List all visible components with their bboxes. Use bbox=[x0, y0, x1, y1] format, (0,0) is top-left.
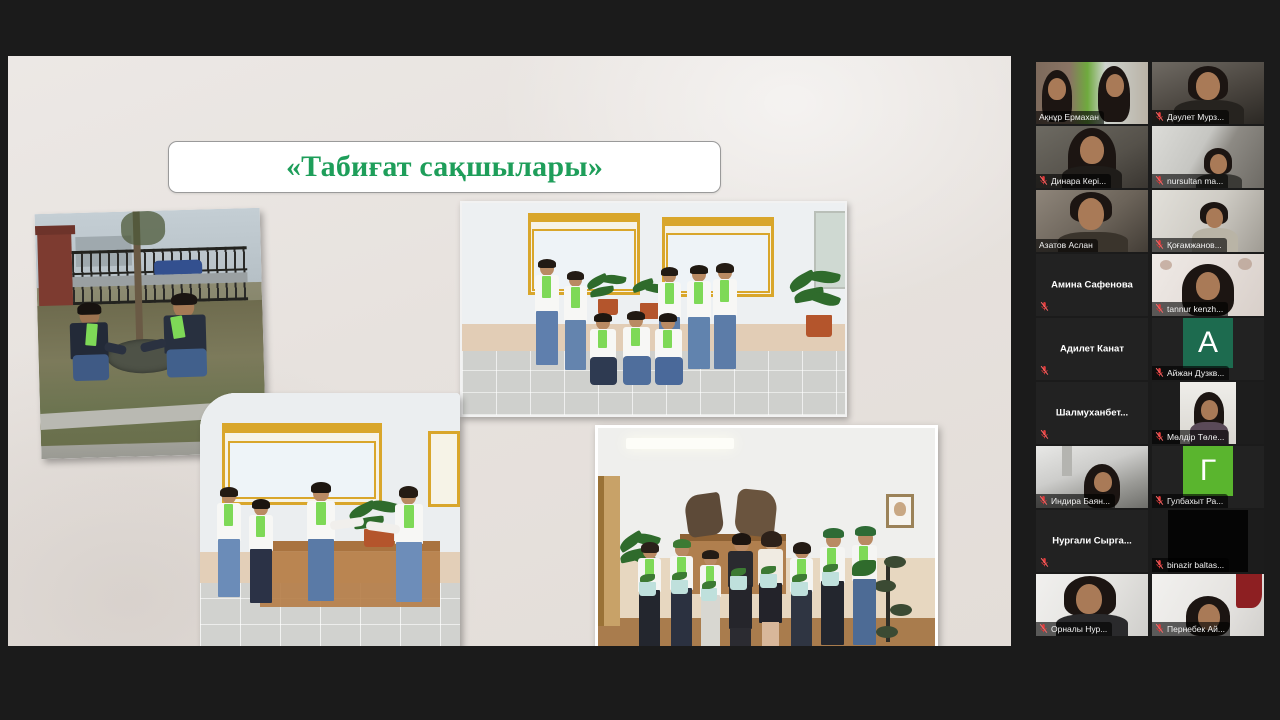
mic-muted-icon bbox=[1155, 239, 1164, 250]
participant-namebar: Индира Баян... bbox=[1036, 494, 1115, 508]
participant-name: Ақнұр Ермахан bbox=[1039, 112, 1099, 122]
mic-muted-icon bbox=[1039, 623, 1048, 634]
participant-name: nursultan ma... bbox=[1167, 176, 1223, 186]
participant-tile[interactable]: ГГулбахыт Ра... bbox=[1152, 446, 1264, 508]
participant-namebar: binazir baltas... bbox=[1152, 558, 1229, 572]
mic-muted-icon bbox=[1155, 495, 1164, 506]
participant-name: Шалмуханбет... bbox=[1036, 408, 1148, 419]
participant-name: Амина Сафенова bbox=[1036, 280, 1148, 291]
participant-tile[interactable]: Амина Сафенова bbox=[1036, 254, 1148, 316]
participant-name: binazir baltas... bbox=[1167, 560, 1224, 570]
participant-tile[interactable]: Орналы Нур... bbox=[1036, 574, 1148, 636]
participant-name: Динара Кері... bbox=[1051, 176, 1106, 186]
participant-tile[interactable]: binazir baltas... bbox=[1152, 510, 1264, 572]
participant-name: Индира Баян... bbox=[1051, 496, 1110, 506]
participant-tile[interactable]: tannur kenzh... bbox=[1152, 254, 1264, 316]
participant-name: Дәулет Мурз... bbox=[1167, 112, 1224, 122]
participant-namebar: Мөлдір Төле... bbox=[1152, 430, 1229, 444]
participant-name: Пернебек Ай... bbox=[1167, 624, 1225, 634]
participant-name: Гулбахыт Ра... bbox=[1167, 496, 1223, 506]
shared-screen-slide[interactable]: «Табиғат сақшылары» bbox=[8, 56, 1011, 646]
mic-muted-icon bbox=[1039, 175, 1048, 186]
participant-name: Нургали Сырга... bbox=[1036, 536, 1148, 547]
participant-tile[interactable]: Шалмуханбет... bbox=[1036, 382, 1148, 444]
mic-muted-icon bbox=[1040, 301, 1049, 312]
participant-tile[interactable]: Мөлдір Төле... bbox=[1152, 382, 1264, 444]
zoom-meeting-window: «Табиғат сақшылары» bbox=[0, 0, 1280, 720]
participant-tile[interactable]: Пернебек Ай... bbox=[1152, 574, 1264, 636]
mic-muted-icon bbox=[1040, 429, 1049, 440]
participant-tile[interactable]: Дәулет Мурз... bbox=[1152, 62, 1264, 124]
photo-carrying-plant bbox=[200, 393, 460, 646]
participant-tile[interactable]: nursultan ma... bbox=[1152, 126, 1264, 188]
participant-namebar: tannur kenzh... bbox=[1152, 302, 1228, 316]
photo-class-group bbox=[460, 201, 847, 417]
participant-tile[interactable]: Динара Кері... bbox=[1036, 126, 1148, 188]
participant-name: Мөлдір Төле... bbox=[1167, 432, 1224, 442]
participant-name: Адилет Канат bbox=[1036, 344, 1148, 355]
participant-namebar: Пернебек Ай... bbox=[1152, 622, 1230, 636]
participant-tile[interactable]: Нургали Сырга... bbox=[1036, 510, 1148, 572]
mic-muted-icon bbox=[1155, 559, 1164, 570]
mic-muted-icon bbox=[1039, 495, 1048, 506]
participant-tile[interactable]: ААйжан Дузкв... bbox=[1152, 318, 1264, 380]
participant-namebar: Айжан Дузкв... bbox=[1152, 366, 1229, 380]
participant-namebar: Қоғамжанов... bbox=[1152, 238, 1227, 252]
mic-muted-icon bbox=[1155, 367, 1164, 378]
participant-tile[interactable]: Адилет Канат bbox=[1036, 318, 1148, 380]
participant-namebar: Ақнұр Ермахан bbox=[1036, 111, 1104, 124]
photo-carrying-plant-image bbox=[200, 393, 460, 646]
participant-namebar: Орналы Нур... bbox=[1036, 622, 1112, 636]
slide-title-plaque: «Табиғат сақшылары» bbox=[168, 141, 721, 193]
participant-tile[interactable]: Индира Баян... bbox=[1036, 446, 1148, 508]
avatar: Г bbox=[1183, 446, 1233, 496]
mic-muted-icon bbox=[1155, 623, 1164, 634]
participant-namebar: Азатов Аслан bbox=[1036, 239, 1098, 252]
photo-hall-lineup-image bbox=[598, 428, 935, 646]
participant-tile[interactable]: Қоғамжанов... bbox=[1152, 190, 1264, 252]
participant-name: Азатов Аслан bbox=[1039, 240, 1093, 250]
photo-class-group-image bbox=[462, 203, 845, 415]
participant-tile[interactable]: Ақнұр Ермахан bbox=[1036, 62, 1148, 124]
mic-muted-icon bbox=[1155, 111, 1164, 122]
participant-namebar: Дәулет Мурз... bbox=[1152, 110, 1229, 124]
participant-tile[interactable]: Азатов Аслан bbox=[1036, 190, 1148, 252]
mic-muted-icon bbox=[1155, 431, 1164, 442]
participant-gallery[interactable]: Ақнұр ЕрмаханДәулет Мурз...Динара Кері..… bbox=[1036, 62, 1268, 648]
participant-namebar: nursultan ma... bbox=[1152, 174, 1228, 188]
page-title: «Табиғат сақшылары» bbox=[286, 150, 603, 184]
mic-muted-icon bbox=[1155, 303, 1164, 314]
participant-name: tannur kenzh... bbox=[1167, 304, 1223, 314]
participant-name: Айжан Дузкв... bbox=[1167, 368, 1224, 378]
participant-name: Орналы Нур... bbox=[1051, 624, 1107, 634]
photo-hall-lineup bbox=[595, 425, 938, 646]
participant-namebar: Динара Кері... bbox=[1036, 174, 1111, 188]
mic-muted-icon bbox=[1155, 175, 1164, 186]
participant-namebar: Гулбахыт Ра... bbox=[1152, 494, 1228, 508]
mic-muted-icon bbox=[1040, 365, 1049, 376]
participant-name: Қоғамжанов... bbox=[1167, 240, 1222, 250]
avatar: А bbox=[1183, 318, 1233, 368]
mic-muted-icon bbox=[1040, 557, 1049, 568]
